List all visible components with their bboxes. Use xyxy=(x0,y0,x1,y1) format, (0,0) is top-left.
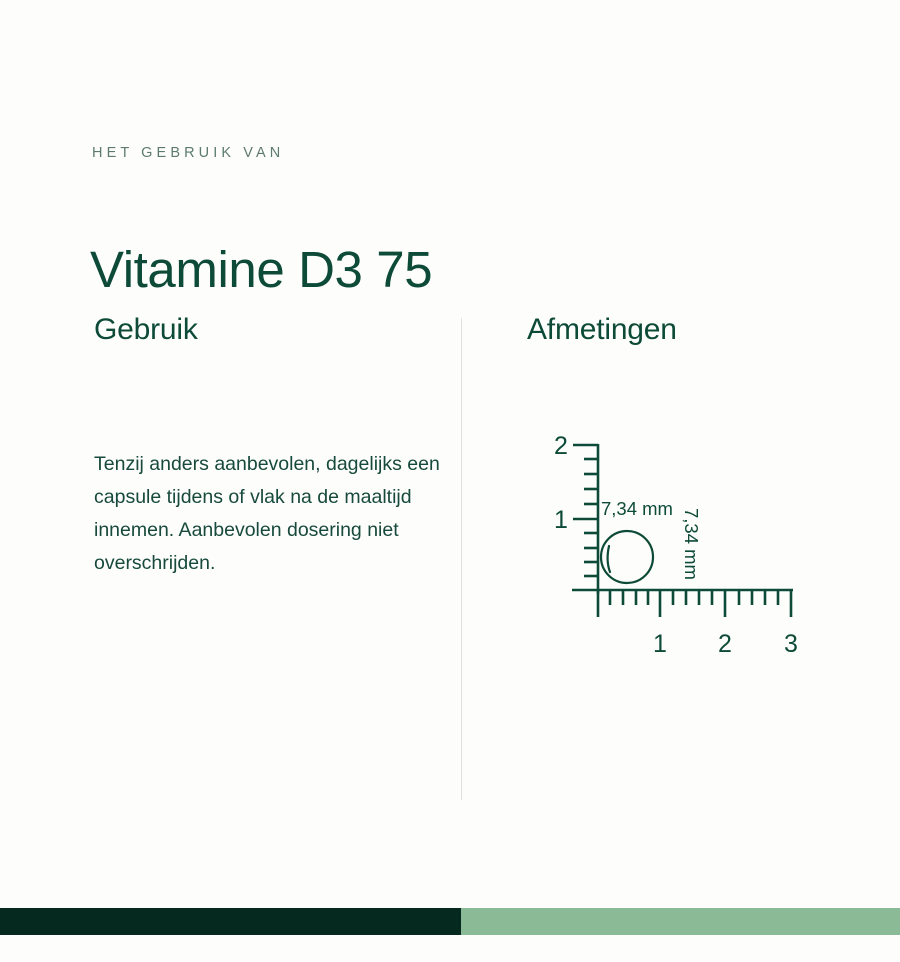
width-measure-label: 7,34 mm xyxy=(601,498,673,519)
footer-color-bars xyxy=(0,908,900,935)
capsule-highlight-mark xyxy=(608,546,610,572)
haxis-label-3: 3 xyxy=(784,630,798,658)
column-dimensions: Afmetingen xyxy=(527,312,867,348)
page-title: Vitamine D3 75 xyxy=(90,240,432,299)
height-measure-label: 7,34 mm xyxy=(681,508,702,580)
footer-bar-light xyxy=(461,908,900,935)
content-columns: Gebruik Tenzij anders aanbevolen, dageli… xyxy=(0,312,900,802)
column-usage: Gebruik Tenzij anders aanbevolen, dageli… xyxy=(94,312,454,580)
page-root: HET GEBRUIK VAN Vitamine D3 75 Gebruik T… xyxy=(0,0,900,962)
footer-bar-dark xyxy=(0,908,461,935)
column-divider xyxy=(461,318,462,800)
capsule-circle xyxy=(601,531,653,583)
haxis-label-2: 2 xyxy=(718,630,732,658)
vaxis-label-2: 2 xyxy=(554,432,568,460)
usage-body-text: Tenzij anders aanbevolen, dagelijks een … xyxy=(94,348,454,580)
dimensions-diagram: 2 1 1 2 3 7,34 mm 7,34 mm xyxy=(527,312,867,672)
vaxis-label-1: 1 xyxy=(554,506,568,534)
haxis-label-1: 1 xyxy=(653,630,667,658)
ruler-diagram-svg: 2 1 1 2 3 7,34 mm 7,34 mm xyxy=(527,312,867,672)
usage-heading: Gebruik xyxy=(94,312,454,348)
eyebrow-label: HET GEBRUIK VAN xyxy=(92,145,284,161)
